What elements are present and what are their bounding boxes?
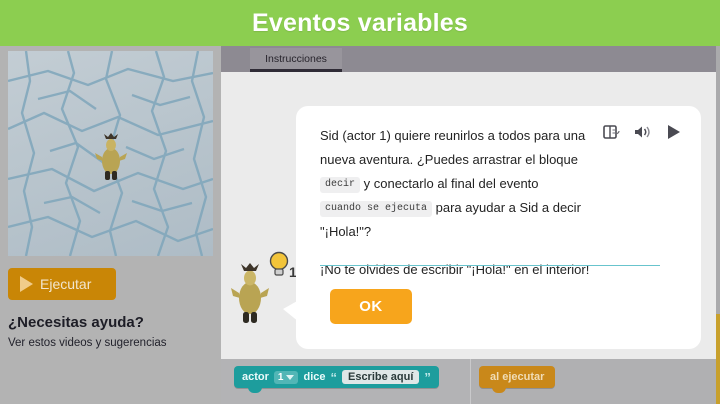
block-al-ejecutar-notch xyxy=(492,387,506,393)
play-icon[interactable] xyxy=(663,122,685,142)
tab-instrucciones[interactable]: Instrucciones xyxy=(250,48,342,72)
chevron-down-icon xyxy=(286,375,294,380)
blocks-palette: actor 1 dice “ Escribe aquí ” al ejecuta… xyxy=(221,359,720,404)
dialog-divider xyxy=(320,265,660,266)
ok-button-label: OK xyxy=(359,298,383,315)
block-chip-decir: decir xyxy=(320,177,360,193)
instruction-paragraph-2: ¡No te olvides de escribir "¡Hola!" en e… xyxy=(320,258,620,282)
instruction-paragraph-1: Sid (actor 1) quiere reunirlos a todos p… xyxy=(320,124,620,244)
tab-bar: Instrucciones xyxy=(221,46,720,72)
play-icon xyxy=(20,276,33,292)
tab-instrucciones-label: Instrucciones xyxy=(265,53,327,65)
page-title-banner: Eventos variables xyxy=(0,0,720,46)
instruction-dialog: Sid (actor 1) quiere reunirlos a todos p… xyxy=(296,106,701,349)
block-al-ejecutar[interactable]: al ejecutar xyxy=(479,366,555,388)
block-say[interactable]: actor 1 dice “ Escribe aquí ” xyxy=(234,366,439,388)
block-say-actor-word: actor xyxy=(242,371,269,383)
block-say-notch xyxy=(248,387,262,393)
text-to-speech-icon[interactable] xyxy=(601,122,623,142)
page-title: Eventos variables xyxy=(252,9,468,38)
block-say-text-input[interactable]: Escribe aquí xyxy=(342,370,419,384)
dialog-icon-row xyxy=(601,122,685,142)
ok-button[interactable]: OK xyxy=(330,289,412,324)
right-edge-strip-upper xyxy=(716,46,720,314)
block-al-ejecutar-label: al ejecutar xyxy=(490,371,544,383)
help-title: ¿Necesitas ayuda? xyxy=(8,314,144,331)
palette-blocks-area[interactable]: actor 1 dice “ Escribe aquí ” xyxy=(221,359,471,404)
dialog-tail xyxy=(283,300,299,322)
app-root: Eventos variables xyxy=(0,0,720,404)
game-stage[interactable] xyxy=(8,51,213,256)
block-say-actor-dropdown[interactable]: 1 xyxy=(274,371,299,384)
instruction-p1-part1: Sid (actor 1) quiere reunirlos a todos p… xyxy=(320,128,585,167)
run-button-label: Ejecutar xyxy=(40,276,91,292)
main-panel: Instrucciones 1 xyxy=(221,46,720,404)
volume-icon[interactable] xyxy=(632,122,654,142)
block-say-actor-number: 1 xyxy=(278,372,284,383)
left-panel: Ejecutar ¿Necesitas ayuda? Ver estos vid… xyxy=(0,46,221,404)
workspace-blocks-area[interactable]: al ejecutar xyxy=(472,359,720,404)
instruction-text: Sid (actor 1) quiere reunirlos a todos p… xyxy=(320,124,620,284)
run-button[interactable]: Ejecutar xyxy=(8,268,116,300)
block-say-verb: dice xyxy=(303,371,325,383)
help-subtitle: Ver estos videos y sugerencias xyxy=(8,337,167,349)
block-say-open-quote: “ xyxy=(330,370,337,385)
block-chip-cuando-se-ejecuta: cuando se ejecuta xyxy=(320,201,432,217)
instructions-body: 1 Sid (actor 1) quiere reunirlos a todos… xyxy=(221,72,720,365)
block-say-close-quote: ” xyxy=(424,370,431,385)
instruction-p1-part2: y conectarlo al final del evento xyxy=(360,176,539,191)
stage-character-sid xyxy=(94,133,128,181)
